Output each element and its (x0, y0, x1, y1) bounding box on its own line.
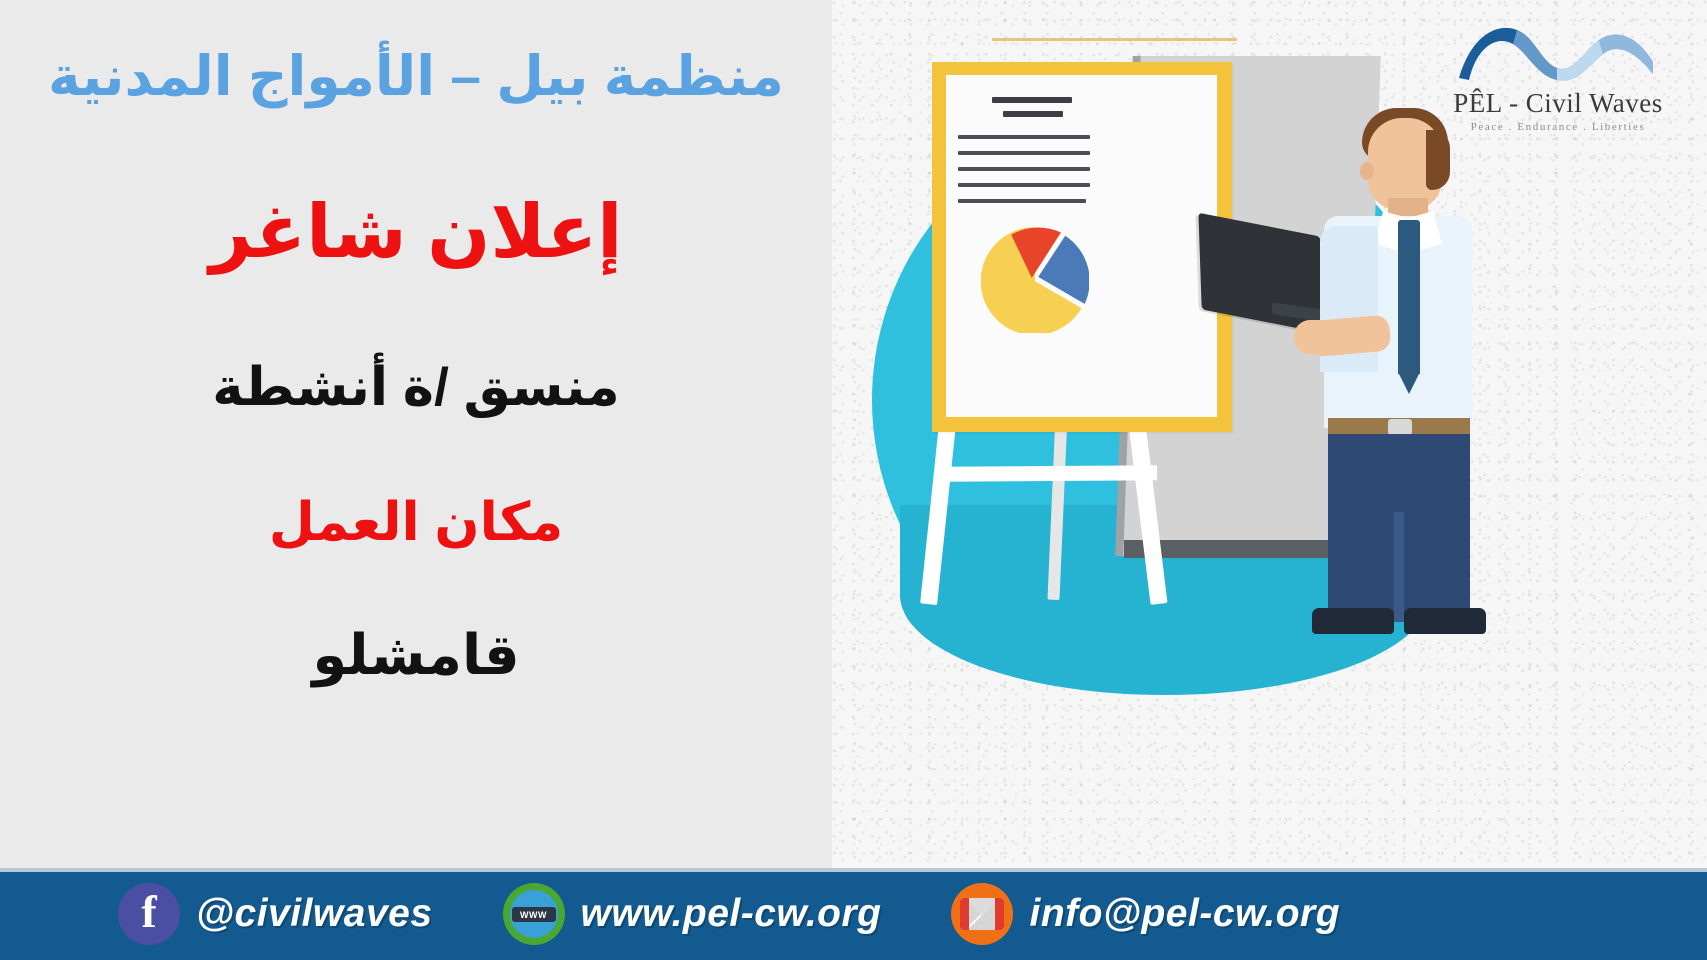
page-title: إعلان شاغر (26, 195, 806, 269)
gmail-icon[interactable] (951, 883, 1013, 945)
person-shoe-right (1404, 608, 1486, 634)
www-band: WWW (512, 907, 556, 922)
text-line-1 (958, 135, 1090, 139)
globe-www-icon[interactable]: WWW (503, 883, 565, 945)
workplace-value: قامشلو (26, 627, 806, 683)
person-hand (1294, 320, 1338, 354)
easel-cross-brace (942, 465, 1157, 482)
text-line-5 (958, 199, 1086, 203)
illustration-panel: PÊL - Civil Waves Peace . Endurance . Li… (832, 0, 1707, 868)
envelope-right-edge (995, 898, 1004, 930)
person-belt-buckle (1388, 419, 1412, 435)
email-address[interactable]: info@pel-cw.org (1029, 892, 1340, 936)
facebook-glyph: f (141, 889, 156, 935)
flipchart-board (932, 62, 1232, 432)
vacancy-poster: منظمة بيل – الأمواج المدنية إعلان شاغر م… (0, 0, 1707, 960)
person-tie (1398, 236, 1420, 374)
facebook-handle[interactable]: @civilwaves (196, 892, 433, 936)
heading-line-1 (992, 97, 1072, 103)
facebook-icon[interactable]: f (118, 883, 180, 945)
footer-facebook[interactable]: f @civilwaves (118, 868, 433, 960)
job-title: منسق /ة أنشطة (26, 361, 806, 414)
waves-mark-icon (1453, 18, 1663, 90)
website-url[interactable]: www.pel-cw.org (581, 892, 882, 936)
pie-chart-icon (981, 225, 1089, 333)
person-trouser-seam (1394, 512, 1404, 622)
footer-email[interactable]: info@pel-cw.org (951, 868, 1340, 960)
easel-top-rail (992, 38, 1237, 41)
logo-tagline: Peace . Endurance . Liberties (1433, 121, 1683, 133)
person-ear (1360, 162, 1374, 180)
workplace-label: مكان العمل (26, 496, 806, 549)
footer-website[interactable]: WWW www.pel-cw.org (503, 868, 882, 960)
flipchart-paper (946, 75, 1217, 417)
globe-graphic: WWW (510, 890, 558, 938)
www-band-text: WWW (520, 910, 547, 920)
text-line-4 (958, 183, 1090, 187)
heading-line-2 (1003, 111, 1063, 117)
announcement-text-panel: منظمة بيل – الأمواج المدنية إعلان شاغر م… (0, 0, 832, 868)
text-line-3 (958, 167, 1090, 171)
envelope-graphic (960, 898, 1004, 930)
envelope-left-edge (960, 898, 969, 930)
contact-footer: f @civilwaves WWW www.pel-cw.org (0, 868, 1707, 960)
organization-name: منظمة بيل – الأمواج المدنية (26, 46, 806, 107)
text-line-2 (958, 151, 1090, 155)
person-hair-side (1426, 130, 1450, 190)
brand-logo: PÊL - Civil Waves Peace . Endurance . Li… (1433, 18, 1683, 133)
person-shoe-left (1312, 608, 1394, 634)
logo-wordmark: PÊL - Civil Waves (1433, 88, 1683, 119)
